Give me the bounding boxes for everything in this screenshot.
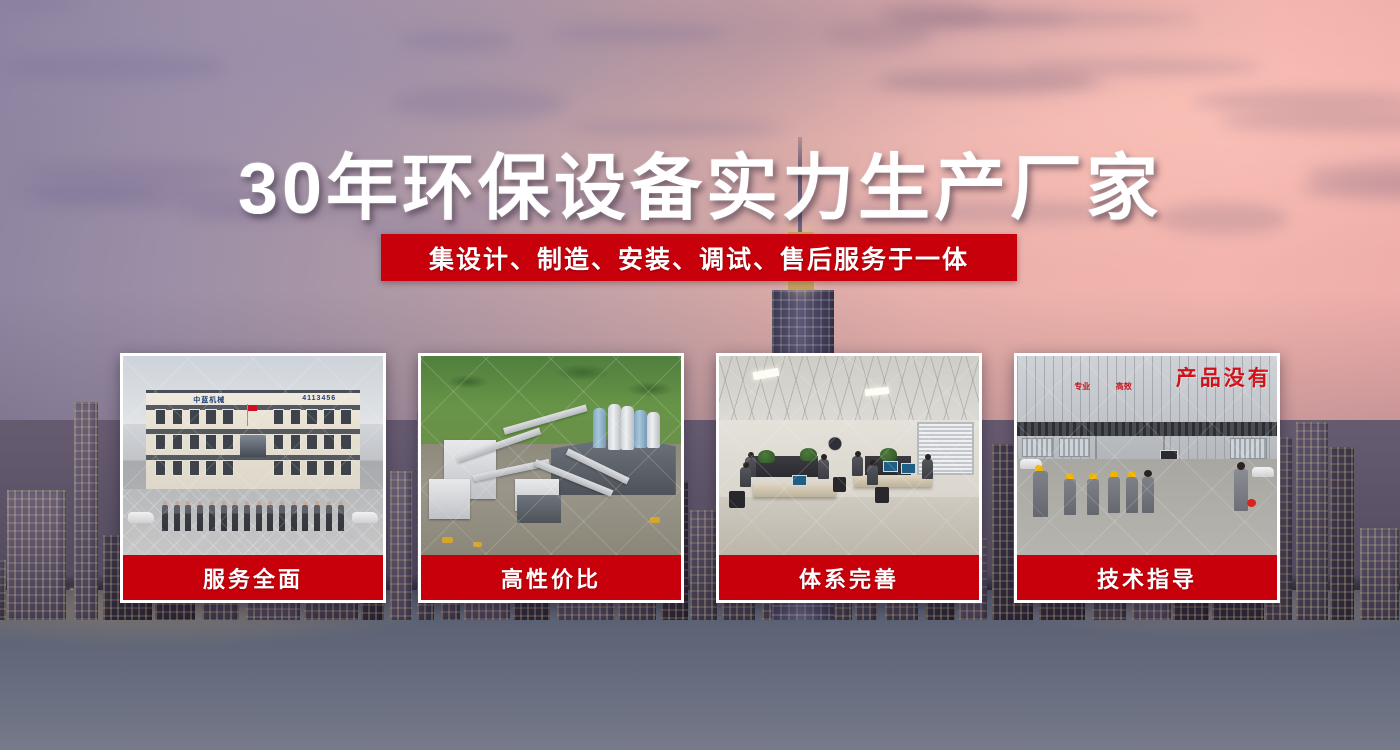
feature-card-service[interactable]: 中蓝机械 4113456 服务全面 xyxy=(120,353,386,603)
feature-card-value[interactable]: 高性价比 xyxy=(418,353,684,603)
card-photo-factory-workers: 产品没有 专业 高效 xyxy=(1017,356,1277,555)
page-title: 30年环保设备实力生产厂家 xyxy=(0,129,1400,234)
building-tel-text: 4113456 xyxy=(302,395,336,402)
feature-card-guidance[interactable]: 产品没有 专业 高效 xyxy=(1014,353,1280,603)
factory-sign-text: 产品没有 xyxy=(1176,362,1272,392)
card-caption-service: 服务全面 xyxy=(123,555,383,600)
card-photo-plant-aerial xyxy=(421,356,681,555)
card-photo-office-building: 中蓝机械 4113456 xyxy=(123,356,383,555)
hero-banner: 30年环保设备实力生产厂家 集设计、制造、安装、调试、售后服务于一体 中蓝机械 … xyxy=(0,0,1400,750)
card-caption-system: 体系完善 xyxy=(719,555,979,600)
subtitle-text: 集设计、制造、安装、调试、售后服务于一体 xyxy=(429,240,969,276)
office-building: 中蓝机械 4113456 xyxy=(146,390,359,490)
feature-card-system[interactable]: 体系完善 xyxy=(716,353,982,603)
subtitle-banner: 集设计、制造、安装、调试、售后服务于一体 xyxy=(381,234,1017,281)
card-photo-office-interior xyxy=(719,356,979,555)
factory-slogan-1: 专业 xyxy=(1074,382,1090,392)
factory-slogan-2: 高效 xyxy=(1116,382,1132,392)
building-sign-text: 中蓝机械 xyxy=(193,395,225,405)
card-caption-value: 高性价比 xyxy=(421,555,681,600)
card-caption-guidance: 技术指导 xyxy=(1017,555,1277,600)
feature-card-list: 中蓝机械 4113456 服务全面 xyxy=(120,353,1280,603)
